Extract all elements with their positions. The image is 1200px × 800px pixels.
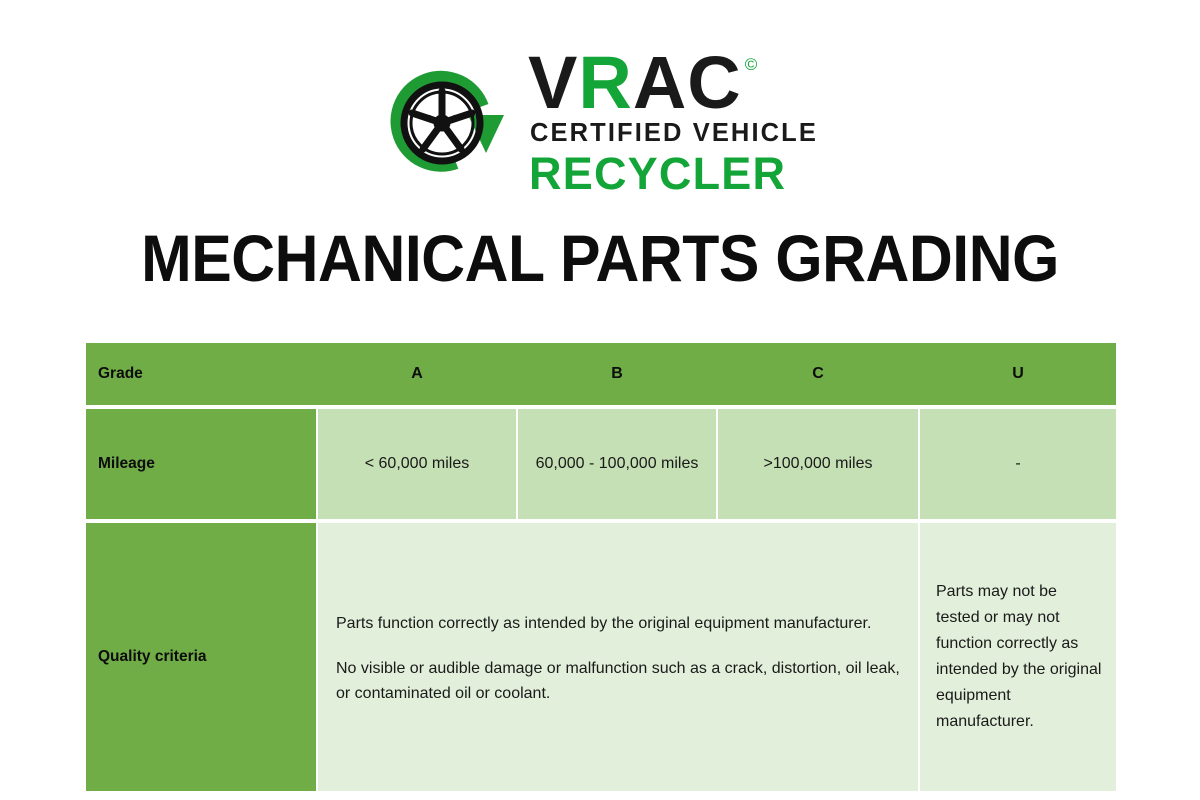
row-label-mileage: Mileage — [86, 409, 316, 519]
table-header-grade-b: B — [518, 343, 716, 405]
mechanical-parts-grading-table: Grade A B C U Mileage < 60,000 miles 60,… — [86, 343, 1116, 791]
table-header-grade-u: U — [920, 343, 1116, 405]
table-row-mileage: Mileage < 60,000 miles 60,000 - 100,000 … — [86, 409, 1116, 519]
mileage-grade-a: < 60,000 miles — [318, 409, 516, 519]
logo-letter-r: R — [578, 41, 632, 124]
table-header-grade: Grade — [86, 343, 316, 405]
quality-criteria-paragraph-2: No visible or audible damage or malfunct… — [336, 656, 900, 708]
mileage-grade-b: 60,000 - 100,000 miles — [518, 409, 716, 519]
quality-criteria-paragraph-1: Parts function correctly as intended by … — [336, 611, 900, 637]
logo-wordmark-main: VRAC © — [528, 52, 757, 114]
logo-vrac-text: VRAC — [528, 52, 742, 114]
table-header-grade-c: C — [718, 343, 918, 405]
logo-wordmark: VRAC © CERTIFIED VEHICLE RECYCLER — [528, 50, 818, 196]
table-header-row: Grade A B C U — [86, 343, 1116, 405]
mileage-grade-c: >100,000 miles — [718, 409, 918, 519]
logo-recycler-text: RECYCLER — [529, 151, 786, 196]
vrac-wheel-recycle-logo-icon — [382, 57, 514, 189]
logo-letters-ac: AC — [633, 41, 742, 124]
quality-criteria-u: Parts may not be tested or may not funct… — [920, 523, 1116, 791]
copyright-icon: © — [745, 56, 758, 73]
page-title: MECHANICAL PARTS GRADING — [48, 220, 1152, 296]
table-header-grade-a: A — [318, 343, 516, 405]
logo: VRAC © CERTIFIED VEHICLE RECYCLER — [382, 50, 818, 196]
logo-block: VRAC © CERTIFIED VEHICLE RECYCLER — [0, 48, 1200, 198]
logo-letter-v: V — [528, 41, 578, 124]
logo-tagline: CERTIFIED VEHICLE — [530, 119, 818, 148]
quality-criteria-abc: Parts function correctly as intended by … — [318, 523, 918, 791]
row-label-quality-criteria: Quality criteria — [86, 523, 316, 791]
table-row-quality-criteria: Quality criteria Parts function correctl… — [86, 523, 1116, 791]
mileage-grade-u: - — [920, 409, 1116, 519]
